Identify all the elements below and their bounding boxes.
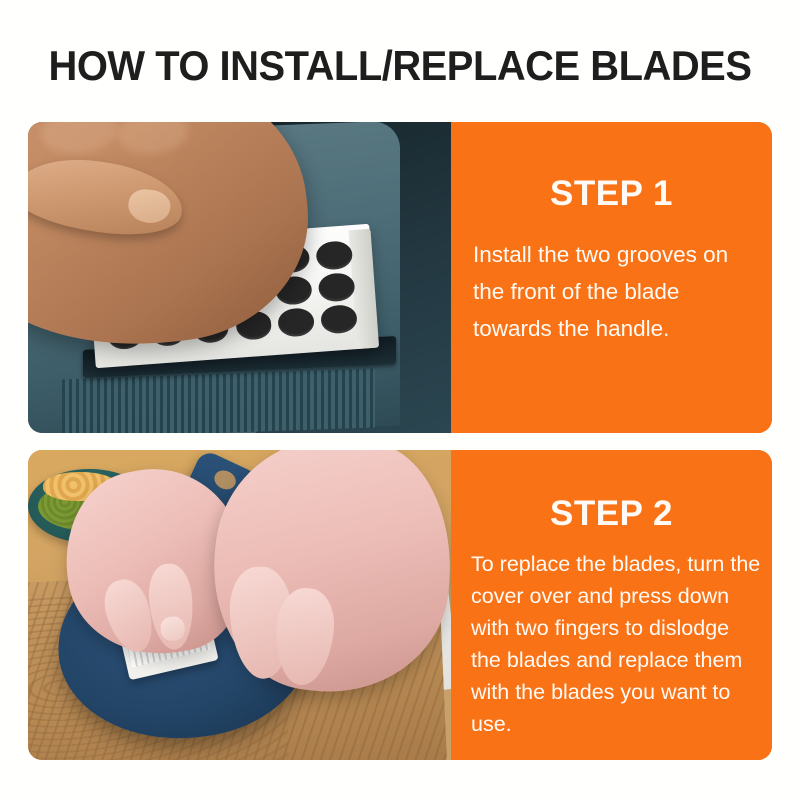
- step-2-body: To replace the blades, turn the cover ov…: [451, 548, 772, 740]
- photo-scene-replace: [28, 450, 451, 760]
- step-1-heading: STEP 1: [451, 174, 772, 214]
- fingernail: [160, 615, 186, 641]
- blade-hole: [318, 272, 355, 302]
- step-card-2: STEP 2 To replace the blades, turn the c…: [28, 450, 772, 760]
- step-2-text-panel: STEP 2 To replace the blades, turn the c…: [451, 450, 772, 760]
- step-1-text-panel: STEP 1 Install the two grooves on the fr…: [451, 122, 772, 433]
- instruction-page: HOW TO INSTALL/REPLACE BLADES: [0, 0, 800, 800]
- step-card-1: STEP 1 Install the two grooves on the fr…: [28, 122, 772, 433]
- photo-scene-install: [28, 122, 451, 433]
- finger: [146, 561, 196, 650]
- step-1-body: Install the two grooves on the front of …: [451, 236, 772, 347]
- thumb: [28, 151, 188, 244]
- knuckle-highlight: [117, 122, 190, 157]
- page-title: HOW TO INSTALL/REPLACE BLADES: [20, 42, 780, 90]
- blade-hole: [316, 240, 353, 270]
- thumbnail: [127, 188, 174, 227]
- slicer-ribbed-base: [62, 368, 375, 433]
- blade-hole: [321, 304, 358, 334]
- blade-hole: [278, 307, 315, 337]
- step-2-photo: [28, 450, 451, 760]
- step-2-heading: STEP 2: [451, 494, 772, 534]
- step-1-photo: [28, 122, 451, 433]
- knuckle-highlight: [40, 122, 120, 157]
